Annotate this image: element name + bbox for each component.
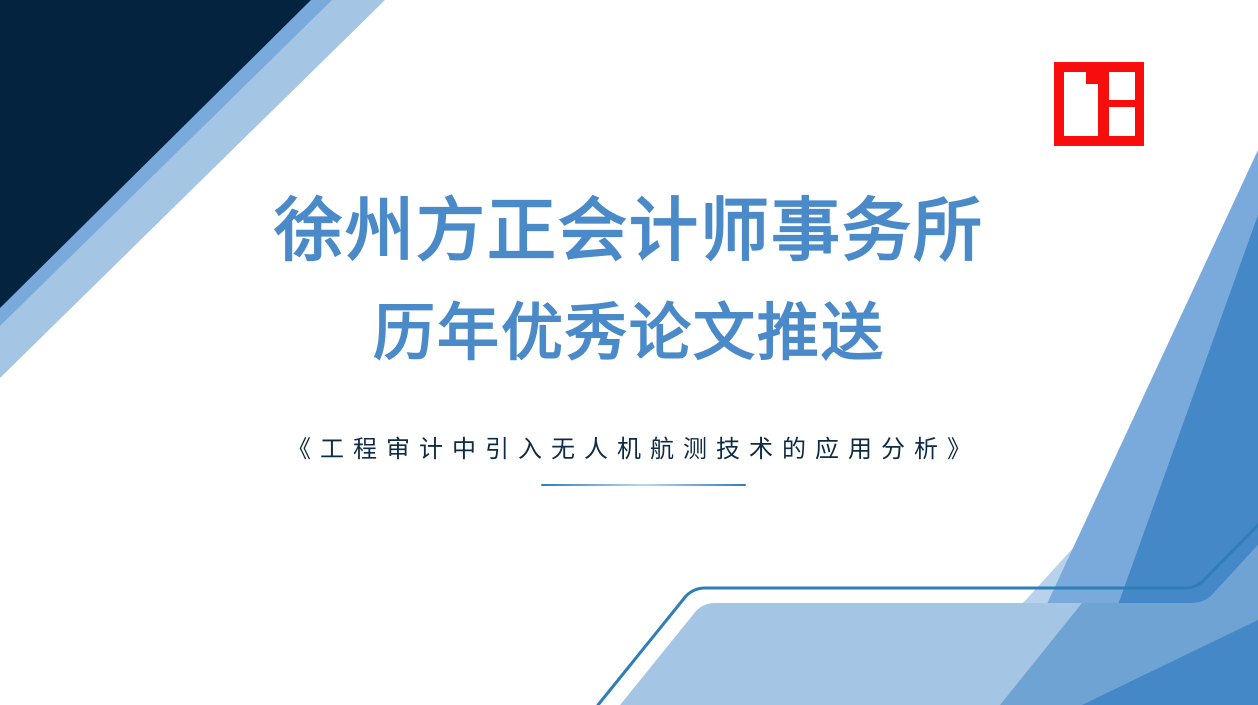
fangzheng-logo-icon [1054, 62, 1144, 146]
bottom-right-corner-accent [1082, 620, 1258, 705]
top-left-mid-band [0, 0, 332, 326]
title-line-1: 徐州方正会计师事务所 [0, 196, 1258, 265]
title-line-2: 历年优秀论文推送 [0, 303, 1258, 365]
trapezoid-fill [620, 545, 1258, 705]
paper-subtitle: 《工程审计中引入无人机航测技术的应用分析》 [0, 429, 1258, 464]
trapezoid-outline [598, 525, 1258, 705]
title-divider [541, 484, 746, 486]
slide-canvas: 徐州方正会计师事务所 历年优秀论文推送 《工程审计中引入无人机航测技术的应用分析… [0, 0, 1258, 705]
trapezoid-right-overlay [1000, 545, 1258, 705]
